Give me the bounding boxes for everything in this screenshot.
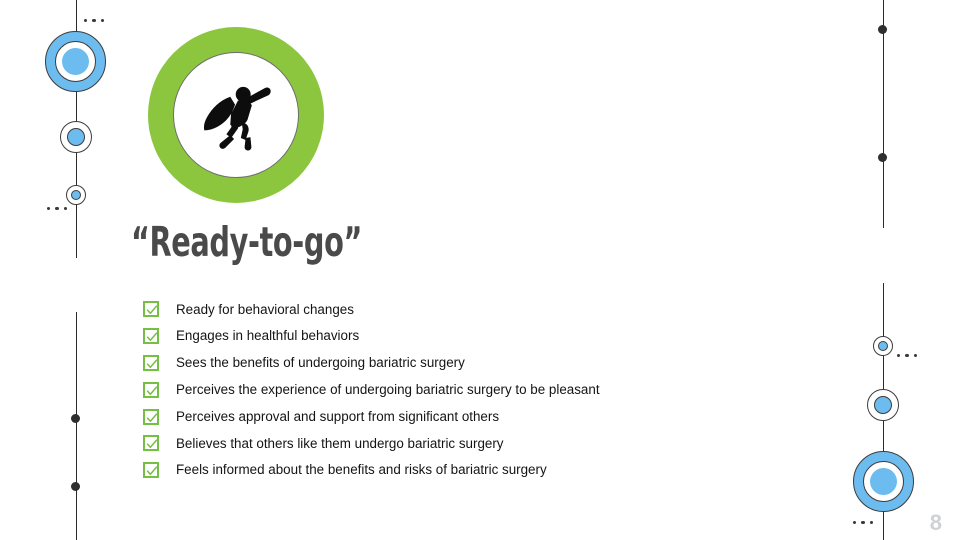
list-item-label: Feels informed about the benefits and ri… [176,463,547,476]
left-rail-ellipsis-bottom [47,207,67,210]
ready-to-go-badge [148,27,324,203]
left-rail-ring-medium [60,121,92,153]
left-rail-dot-2 [71,482,80,491]
checkbox-checked-icon[interactable] [143,435,159,451]
slide-canvas: “Ready-to-go” Ready for behavioral chang… [0,0,960,540]
superhero-running-icon [188,67,284,163]
checkbox-checked-icon[interactable] [143,328,159,344]
right-rail-dot-2 [878,153,887,162]
left-rail-ring-large [45,31,106,92]
checkbox-checked-icon[interactable] [143,382,159,398]
right-rail-ring-small [873,336,893,356]
list-item: Believes that others like them undergo b… [143,430,843,457]
right-rail-ring-medium [867,389,899,421]
checkbox-checked-icon[interactable] [143,462,159,478]
left-rail-ellipsis-top [84,19,104,22]
left-rail-dot-1 [71,414,80,423]
list-item-label: Ready for behavioral changes [176,303,354,316]
checklist: Ready for behavioral changes Engages in … [143,296,843,484]
right-rail-ellipsis-top [897,354,917,357]
list-item: Ready for behavioral changes [143,296,843,323]
right-rail-line-top [883,0,884,228]
list-item: Feels informed about the benefits and ri… [143,457,843,484]
list-item: Engages in healthful behaviors [143,323,843,350]
list-item-label: Perceives approval and support from sign… [176,410,499,423]
list-item-label: Perceives the experience of undergoing b… [176,383,600,396]
left-rail-line-bottom [76,312,77,540]
checkbox-checked-icon[interactable] [143,301,159,317]
list-item-label: Engages in healthful behaviors [176,329,359,342]
checkbox-checked-icon[interactable] [143,355,159,371]
checkbox-checked-icon[interactable] [143,409,159,425]
list-item: Perceives approval and support from sign… [143,403,843,430]
page-number: 8 [930,512,942,534]
list-item-label: Believes that others like them undergo b… [176,437,504,450]
right-rail-ring-large [853,451,914,512]
right-rail-ellipsis-bottom [853,521,873,524]
badge-inner-circle [173,52,299,178]
list-item: Perceives the experience of undergoing b… [143,376,843,403]
list-item-label: Sees the benefits of undergoing bariatri… [176,356,465,369]
list-item: Sees the benefits of undergoing bariatri… [143,350,843,377]
left-rail-ring-small [66,185,86,205]
page-title: “Ready-to-go” [131,222,362,263]
right-rail-dot-1 [878,25,887,34]
